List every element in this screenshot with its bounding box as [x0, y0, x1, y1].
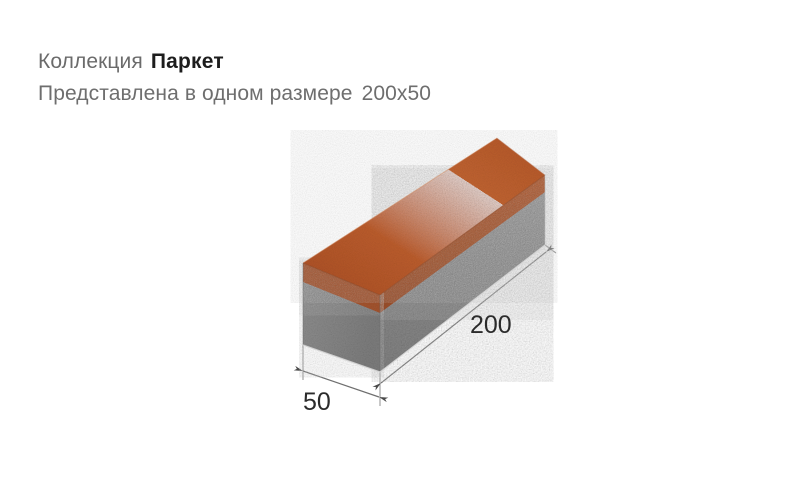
length-dimension-label: 200	[470, 311, 512, 339]
width-dimension-label: 50	[303, 388, 331, 416]
extension-line-right	[545, 245, 556, 253]
page-canvas: КоллекцияПаркет Представлена в одном раз…	[0, 0, 800, 496]
product-illustration: 200 50	[0, 0, 800, 496]
